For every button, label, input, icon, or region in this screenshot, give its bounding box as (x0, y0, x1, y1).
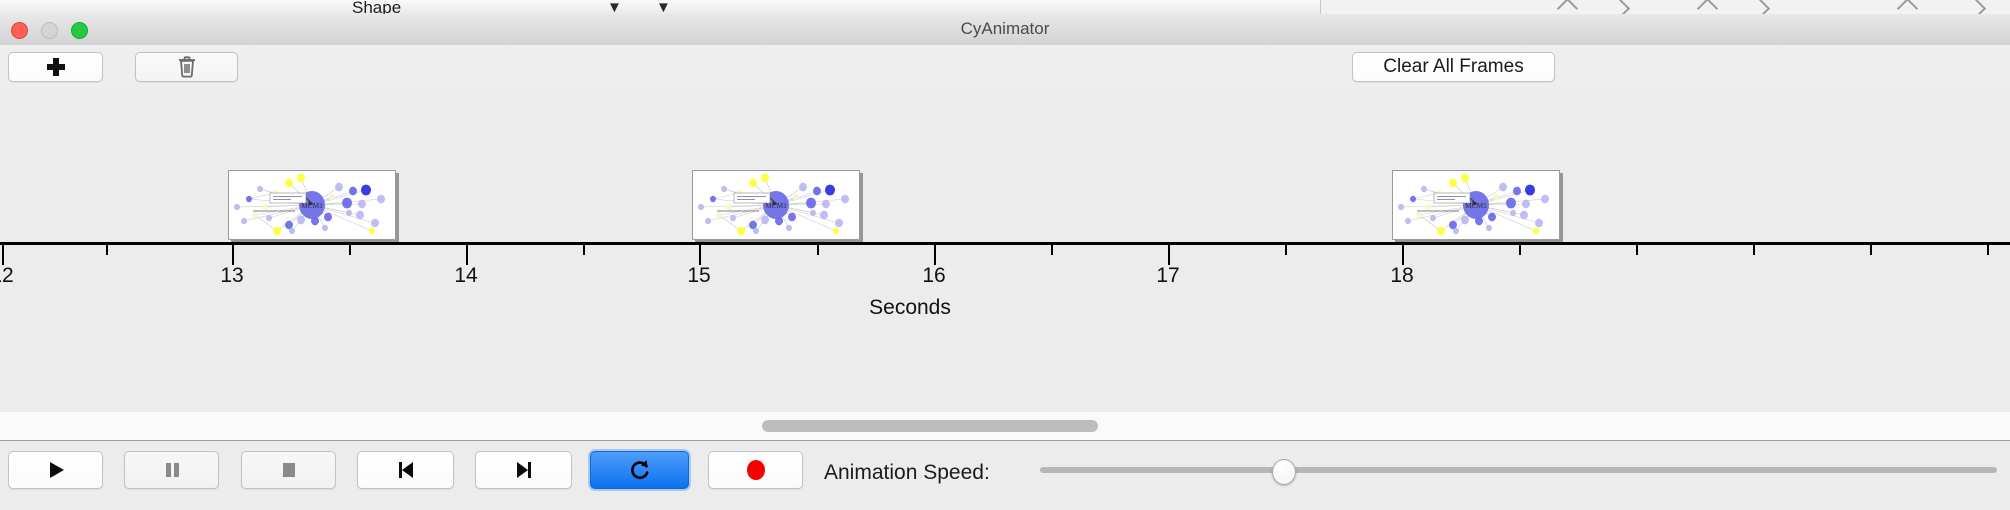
slider-thumb[interactable] (1272, 459, 1296, 485)
axis-tick-minor (1870, 245, 1872, 255)
axis-tick-major (699, 245, 701, 265)
trash-icon (176, 55, 198, 79)
axis-tick-label: 12 (0, 264, 14, 288)
timeline-frame[interactable]: MCM1 (228, 170, 396, 240)
chevron-icon (1749, 0, 1770, 14)
toolbar: Clear All Frames (0, 45, 2010, 90)
svg-text:MCM1: MCM1 (301, 201, 323, 210)
timeline-frame[interactable]: MCM1 (1392, 170, 1560, 240)
axis-tick-minor (1753, 245, 1755, 255)
delete-frame-button[interactable] (135, 52, 238, 82)
stop-icon (278, 459, 300, 481)
axis-tick-major (232, 245, 234, 265)
chevron-icon (1965, 0, 1986, 14)
background-window-strip: Shape▼▼ (0, 0, 2010, 14)
title-bar: CyAnimator (0, 14, 2010, 46)
skip-backward-icon (394, 459, 418, 481)
background-segment (415, 0, 521, 14)
loop-button[interactable] (590, 451, 689, 489)
axis-tick-minor (583, 245, 585, 255)
background-segment (700, 0, 846, 14)
stop-button[interactable] (241, 451, 336, 489)
playback-bar: Animation Speed: (0, 441, 2010, 510)
animation-speed-slider[interactable] (1040, 451, 1997, 489)
chevron-icon (1897, 0, 1918, 14)
add-frame-button[interactable] (8, 52, 103, 82)
axis-tick-minor (817, 245, 819, 255)
axis-title: Seconds (869, 296, 951, 320)
record-button[interactable] (708, 451, 803, 489)
plus-icon (47, 58, 65, 76)
record-icon (744, 458, 768, 482)
axis-tick-major (1402, 245, 1404, 265)
svg-text:MCM1: MCM1 (1465, 201, 1487, 210)
background-label: ▼ (656, 0, 671, 14)
play-button[interactable] (8, 451, 103, 489)
background-segment (0, 0, 179, 14)
chevron-icon (1609, 0, 1630, 14)
axis-tick-minor (1987, 245, 1989, 255)
axis-tick-label: 15 (687, 264, 710, 288)
window-title: CyAnimator (0, 19, 2010, 39)
background-segment (585, 0, 701, 14)
background-segment (520, 0, 586, 14)
timeline-axis (0, 242, 2010, 245)
axis-tick-label: 16 (922, 264, 945, 288)
axis-tick-major (2, 245, 4, 265)
pause-icon (161, 459, 183, 481)
timeline-panel[interactable]: MCM1 MCM1 MCM1 12131415161718 Seconds (0, 89, 2010, 413)
chevron-icon (1557, 0, 1578, 14)
pause-button[interactable] (124, 451, 219, 489)
timeline-frame[interactable]: MCM1 (692, 170, 860, 240)
axis-tick-minor (106, 245, 108, 255)
axis-tick-label: 17 (1156, 264, 1179, 288)
skip-forward-icon (512, 459, 536, 481)
play-icon (45, 459, 67, 481)
axis-tick-minor (1285, 245, 1287, 255)
prev-frame-button[interactable] (357, 451, 454, 489)
timeline-scrollbar[interactable] (0, 412, 2010, 441)
animation-speed-label: Animation Speed: (824, 461, 990, 485)
svg-text:MCM1: MCM1 (765, 201, 787, 210)
axis-tick-minor (1636, 245, 1638, 255)
axis-tick-minor (1051, 245, 1053, 255)
cyanimator-window: Shape▼▼ CyAnimator Clear All Frames (0, 0, 2010, 510)
axis-tick-major (1168, 245, 1170, 265)
clear-all-frames-button[interactable]: Clear All Frames (1352, 52, 1555, 82)
background-segment (1010, 0, 1151, 14)
loop-icon (627, 457, 653, 483)
timeline-scrollbar-thumb[interactable] (762, 420, 1098, 432)
background-segment (1150, 0, 1321, 14)
axis-tick-label: 13 (220, 264, 243, 288)
axis-tick-minor (1519, 245, 1521, 255)
slider-track[interactable] (1040, 467, 1997, 473)
axis-tick-minor (349, 245, 351, 255)
axis-tick-label: 18 (1390, 264, 1413, 288)
axis-tick-major (934, 245, 936, 265)
background-label: Shape (352, 0, 401, 14)
next-frame-button[interactable] (475, 451, 572, 489)
chevron-icon (1697, 0, 1718, 14)
clear-all-frames-label: Clear All Frames (1383, 56, 1523, 78)
background-label: ▼ (607, 0, 622, 14)
background-segment (845, 0, 1011, 14)
axis-tick-label: 14 (454, 264, 477, 288)
axis-tick-major (466, 245, 468, 265)
